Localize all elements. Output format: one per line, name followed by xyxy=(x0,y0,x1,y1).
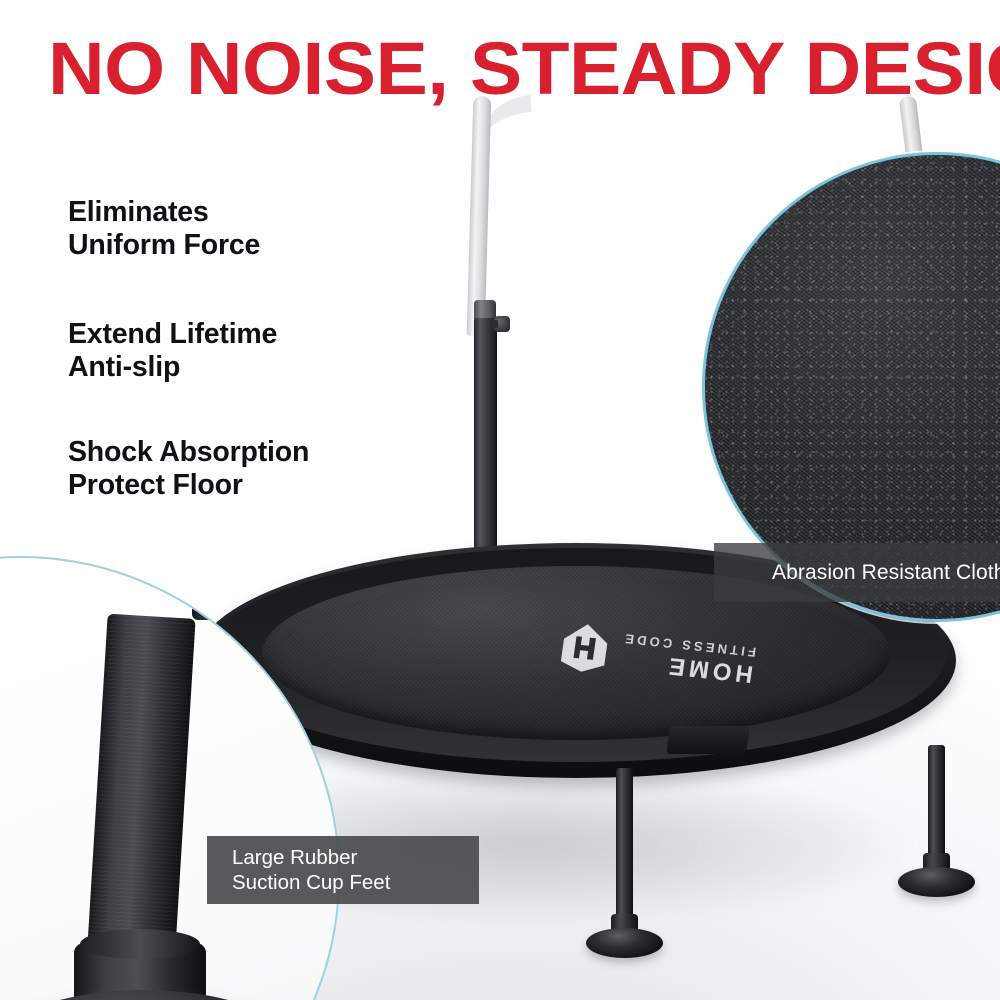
feature-item-eliminates-uniform-force: Eliminates Uniform Force xyxy=(68,196,309,262)
feature-line-1: Shock Absorption xyxy=(68,436,309,469)
suction-cup-foot xyxy=(586,928,663,958)
feature-line-1: Extend Lifetime xyxy=(68,318,309,351)
mini-suction-cup xyxy=(276,658,336,680)
leg-post xyxy=(616,768,633,918)
callout-label-foot-line-1: Large Rubber xyxy=(232,845,479,870)
inset-foot-closeup xyxy=(0,556,340,1000)
suction-cup-foot xyxy=(898,867,975,897)
mini-frame-bracket xyxy=(192,586,218,620)
feature-item-shock-absorption-protect-floor: Shock Absorption Protect Floor xyxy=(68,436,309,502)
suction-cup-base xyxy=(0,990,314,1000)
handlebar-lower-tube-left xyxy=(474,318,497,580)
leg-post xyxy=(928,745,945,857)
feature-line-2: Anti-slip xyxy=(68,351,309,384)
feature-line-1: Eliminates xyxy=(68,196,309,229)
shield-h-icon xyxy=(559,622,609,674)
feature-line-2: Protect Floor xyxy=(68,469,309,502)
brand-logo-text: HOME FITNESS CODE xyxy=(617,632,756,686)
feature-line-2: Uniform Force xyxy=(68,229,309,262)
callout-label-foot: Large Rubber Suction Cup Feet xyxy=(207,836,479,904)
feature-item-extend-lifetime-anti-slip: Extend Lifetime Anti-slip xyxy=(68,318,309,384)
product-feature-image: NO NOISE, STEADY DESIGN Eliminates Unifo… xyxy=(0,0,1000,1000)
mini-leg-post xyxy=(300,606,312,664)
callout-label-cloth-text: Abrasion Resistant Cloth xyxy=(772,561,1000,585)
height-adjust-knob-icon xyxy=(494,316,510,332)
callout-label-cloth: Abrasion Resistant Cloth xyxy=(714,543,1000,602)
frame-bracket-front xyxy=(666,726,750,754)
callout-label-foot-line-2: Suction Cup Feet xyxy=(232,870,479,895)
page-title: NO NOISE, STEADY DESIGN xyxy=(48,33,1000,105)
feature-list: Eliminates Uniform Force Extend Lifetime… xyxy=(68,196,309,548)
inset-background-trampoline xyxy=(172,556,340,680)
